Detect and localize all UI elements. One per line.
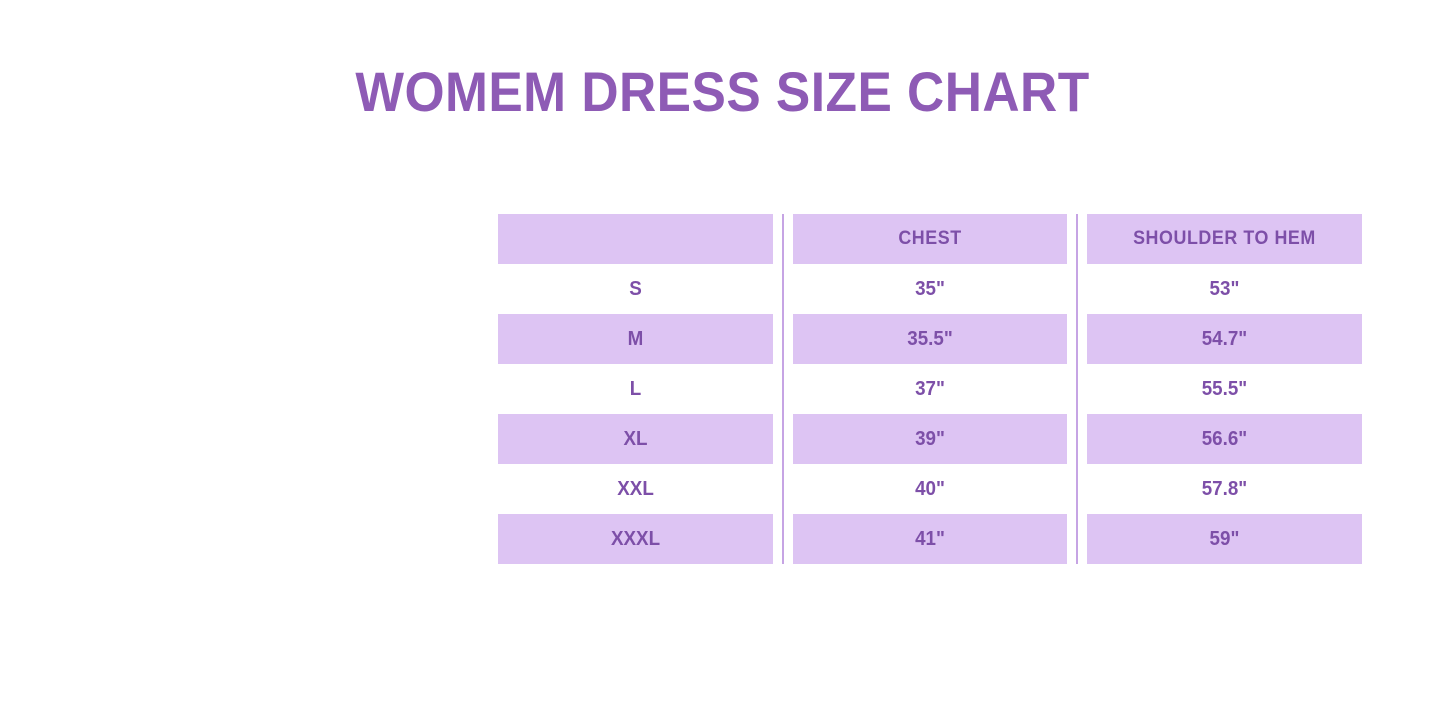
cell-size: L	[498, 364, 774, 414]
cell-shoulder-to-hem: 53"	[1086, 264, 1362, 314]
cell-chest: 41"	[792, 514, 1068, 564]
cell-chest: 37"	[792, 364, 1068, 414]
column-header-chest: CHEST	[792, 214, 1068, 264]
cell-size: XXXL	[498, 514, 774, 564]
cell-chest: 40"	[792, 464, 1068, 514]
cell-shoulder-to-hem: 57.8"	[1086, 464, 1362, 514]
table-row: L 37" 55.5"	[489, 364, 1371, 414]
cell-chest: 39"	[792, 414, 1068, 464]
cell-chest: 35"	[792, 264, 1068, 314]
cell-size: XL	[498, 414, 774, 464]
column-header-size	[498, 214, 774, 264]
table-row: XXXL 41" 59"	[489, 514, 1371, 564]
cell-shoulder-to-hem: 56.6"	[1086, 414, 1362, 464]
page-title: WOMEM DRESS SIZE CHART	[58, 57, 1387, 127]
size-chart-table: CHEST SHOULDER TO HEM S 35" 53" M 35.5" …	[489, 214, 1371, 564]
size-chart-page: WOMEM DRESS SIZE CHART CHEST SHOULDER TO…	[0, 0, 1445, 723]
cell-shoulder-to-hem: 54.7"	[1086, 314, 1362, 364]
cell-size: S	[498, 264, 774, 314]
table-row: XXL 40" 57.8"	[489, 464, 1371, 514]
cell-size: XXL	[498, 464, 774, 514]
cell-size: M	[498, 314, 774, 364]
cell-shoulder-to-hem: 55.5"	[1086, 364, 1362, 414]
cell-shoulder-to-hem: 59"	[1086, 514, 1362, 564]
column-header-shoulder-to-hem: SHOULDER TO HEM	[1086, 214, 1362, 264]
table-row: M 35.5" 54.7"	[489, 314, 1371, 364]
table-row: XL 39" 56.6"	[489, 414, 1371, 464]
cell-chest: 35.5"	[792, 314, 1068, 364]
table-header-row: CHEST SHOULDER TO HEM	[489, 214, 1371, 264]
table-row: S 35" 53"	[489, 264, 1371, 314]
